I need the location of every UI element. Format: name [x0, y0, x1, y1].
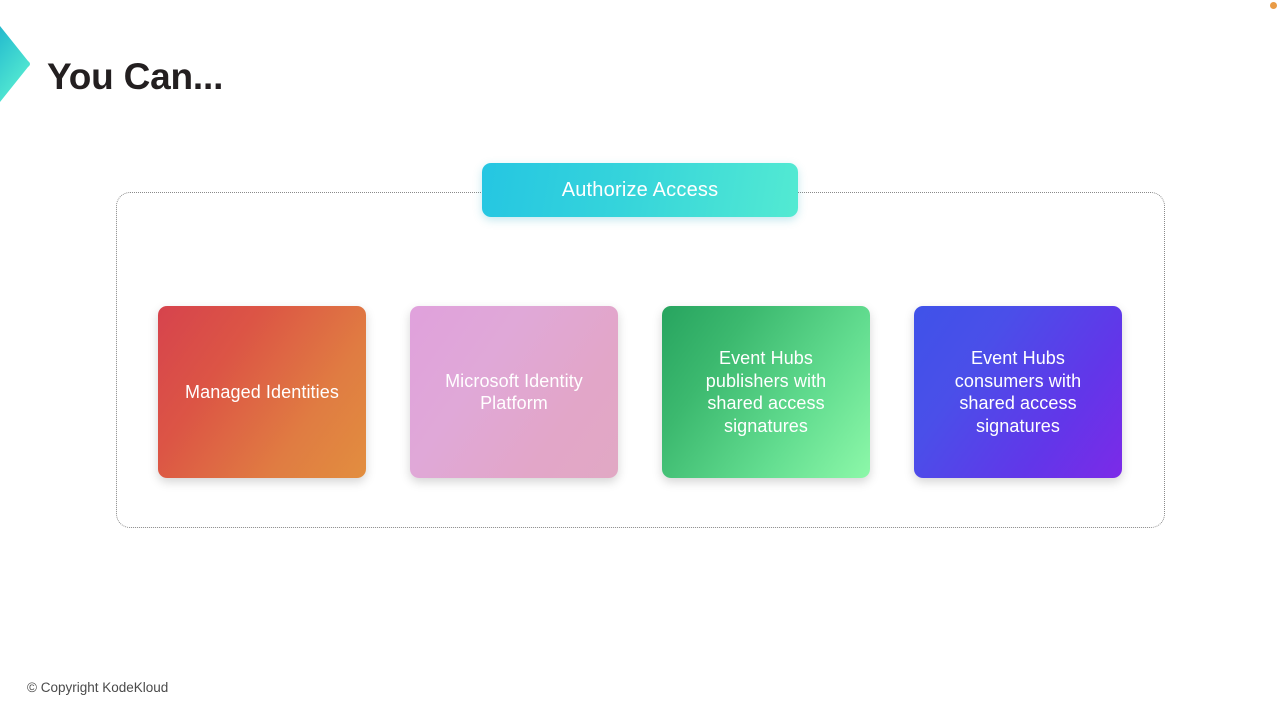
card-label: Microsoft Identity Platform: [424, 370, 604, 415]
card-event-hubs-publishers[interactable]: Event Hubs publishers with shared access…: [662, 306, 870, 478]
chevron-right-icon: [0, 14, 46, 114]
authorize-access-banner[interactable]: Authorize Access: [482, 163, 798, 217]
authorize-access-banner-label: Authorize Access: [562, 178, 719, 202]
card-label: Managed Identities: [185, 381, 339, 404]
page-title: You Can...: [47, 50, 223, 104]
slide-canvas: You Can... Authorize Access Managed Iden…: [0, 0, 1280, 720]
cards-row: Managed Identities Microsoft Identity Pl…: [158, 306, 1123, 478]
corner-accent-dot: [1270, 2, 1277, 9]
card-label: Event Hubs publishers with shared access…: [676, 347, 856, 437]
card-microsoft-identity-platform[interactable]: Microsoft Identity Platform: [410, 306, 618, 478]
card-label: Event Hubs consumers with shared access …: [928, 347, 1108, 437]
card-event-hubs-consumers[interactable]: Event Hubs consumers with shared access …: [914, 306, 1122, 478]
footer-copyright: © Copyright KodeKloud: [27, 679, 168, 697]
card-managed-identities[interactable]: Managed Identities: [158, 306, 366, 478]
